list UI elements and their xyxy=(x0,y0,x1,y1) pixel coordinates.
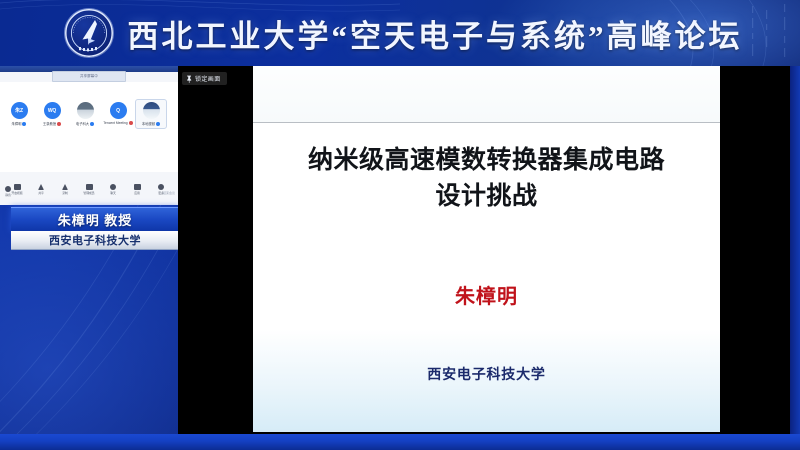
camera-icon xyxy=(14,184,21,190)
slide-header-band xyxy=(253,66,720,123)
event-banner: 西北工业大学“空天电子与系统”高峰论坛 xyxy=(0,0,800,69)
toolbar-share-button[interactable]: 共享 xyxy=(34,184,48,195)
record-icon xyxy=(62,184,68,190)
participant-name-row: 电子科大 xyxy=(76,121,94,126)
participant-name: 朱樟明 xyxy=(12,121,22,126)
microphone-muted-icon xyxy=(129,121,133,125)
speaker-name: 朱樟明 教授 xyxy=(58,210,133,229)
toolbar-video-button[interactable]: 开启视频 xyxy=(10,184,24,195)
participant-name-row: 王泉教授 xyxy=(43,121,61,126)
participant-name-row: Tencent Meeting xyxy=(103,121,132,125)
participant-tile[interactable]: 朱Z 朱樟明 xyxy=(7,102,31,126)
participant-name: 本地视频 xyxy=(142,121,155,126)
toolbar-chat-button[interactable]: 聊天 xyxy=(106,184,120,195)
stage-right-edge xyxy=(790,66,800,434)
microphone-icon xyxy=(90,122,94,126)
participant-tile[interactable]: 电子科大 xyxy=(73,102,97,126)
screen-share-status-text: 共享屏幕中 xyxy=(53,72,125,81)
toolbar-label: 应用 xyxy=(134,191,140,195)
pin-icon xyxy=(186,75,192,83)
slide-organization: 西安电子科技大学 xyxy=(253,364,720,384)
microphone-icon xyxy=(156,122,160,126)
participant-tile-strip: 朱Z 朱樟明 WQ 王泉教授 电子科大 xyxy=(7,102,163,126)
meeting-toolbar: 开启视频 共享 录制 管理成员 聊天 应用 xyxy=(0,179,178,199)
lock-screen-label: 锁定画面 xyxy=(195,74,221,83)
slide-author: 朱樟明 xyxy=(253,280,720,309)
presentation-slide: 纳米级高速模数转换器集成电路 设计挑战 朱樟明 西安电子科技大学 xyxy=(253,66,720,432)
avatar: WQ xyxy=(44,102,61,119)
members-icon xyxy=(86,184,93,190)
participant-name: Tencent Meeting xyxy=(103,121,127,125)
slide-title-line2: 设计挑战 xyxy=(253,178,720,214)
avatar: Q xyxy=(110,102,127,119)
avatar xyxy=(143,102,160,119)
participant-tile[interactable]: WQ 王泉教授 xyxy=(40,102,64,126)
participant-name-row: 本地视频 xyxy=(142,121,160,126)
more-icon xyxy=(158,184,164,190)
avatar xyxy=(77,102,94,119)
banner-title: 西北工业大学“空天电子与系统”高峰论坛 xyxy=(128,11,743,56)
university-seal-logo xyxy=(64,8,114,58)
avatar: 朱Z xyxy=(11,102,28,119)
slide-title: 纳米级高速模数转换器集成电路 设计挑战 xyxy=(253,142,720,214)
speaker-affiliation: 西安电子科技大学 xyxy=(49,232,141,248)
toolbar-label: 开启视频 xyxy=(11,191,22,195)
toolbar-label: 共享 xyxy=(38,191,44,195)
microphone-icon xyxy=(22,122,26,126)
stage-bottom-strip xyxy=(0,434,800,450)
speaker-nameplate: 朱樟明 教授 西安电子科技大学 xyxy=(11,207,179,250)
toolbar-label: 管理成员 xyxy=(83,191,94,195)
toolbar-record-button[interactable]: 录制 xyxy=(58,184,72,195)
microphone-muted-icon xyxy=(57,122,61,126)
speaker-name-bar: 朱樟明 教授 xyxy=(11,207,179,231)
leave-meeting-button[interactable]: 结束会议 xyxy=(163,191,175,195)
chat-icon xyxy=(110,184,116,190)
shared-screen-region: 锁定画面 纳米级高速模数转换器集成电路 设计挑战 朱樟明 西安电子科技大学 xyxy=(178,66,790,434)
toolbar-apps-button[interactable]: 应用 xyxy=(130,184,144,195)
meeting-window[interactable]: 共享屏幕中 朱Z 朱樟明 WQ 王泉教授 电子科大 xyxy=(0,66,179,205)
toolbar-label: 录制 xyxy=(62,191,68,195)
slide-title-line1: 纳米级高速模数转换器集成电路 xyxy=(308,146,665,174)
speaker-affiliation-bar: 西安电子科技大学 xyxy=(11,231,179,250)
toolbar-members-button[interactable]: 管理成员 xyxy=(82,184,96,195)
broadcast-screen: 西北工业大学“空天电子与系统”高峰论坛 共享屏幕中 朱Z 朱樟明 WQ 王泉教授 xyxy=(0,0,800,450)
participant-tile-active[interactable]: 本地视频 xyxy=(136,100,166,128)
letterbox-right xyxy=(720,66,790,434)
apps-icon xyxy=(134,184,141,190)
participant-tile[interactable]: Q Tencent Meeting xyxy=(106,102,130,125)
lock-screen-button[interactable]: 锁定画面 xyxy=(182,72,227,85)
participant-name-row: 朱樟明 xyxy=(12,121,27,126)
screen-share-status-pill: 共享屏幕中 xyxy=(52,71,126,82)
share-icon xyxy=(38,184,44,190)
toolbar-label: 聊天 xyxy=(110,191,116,195)
participant-name: 王泉教授 xyxy=(43,121,56,126)
participant-name: 电子科大 xyxy=(76,121,89,126)
